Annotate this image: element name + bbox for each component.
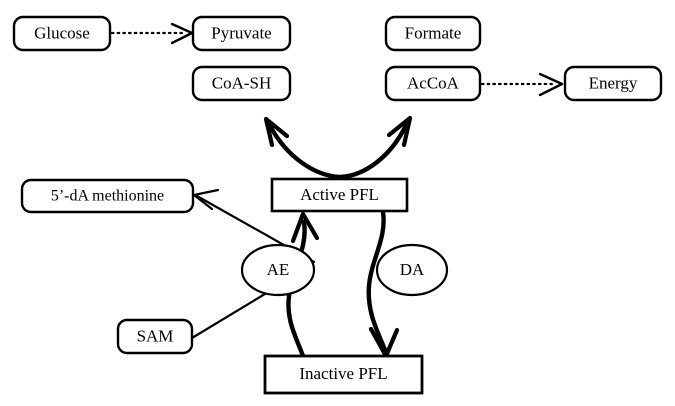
diagram-canvas: Glucose Pyruvate CoA-SH Formate AcCoA En… bbox=[0, 0, 675, 406]
node-sam[interactable]: SAM bbox=[118, 320, 192, 353]
node-pyruvate-label: Pyruvate bbox=[211, 23, 271, 42]
edge-accoa-to-energy bbox=[482, 74, 562, 95]
pathway-diagram: Glucose Pyruvate CoA-SH Formate AcCoA En… bbox=[0, 0, 675, 406]
node-energy-label: Energy bbox=[589, 73, 638, 92]
node-inactive-pfl-label: Inactive PFL bbox=[299, 364, 387, 383]
node-ae-label: AE bbox=[267, 260, 290, 279]
edge-activepfl-to-products bbox=[266, 118, 410, 177]
edge-glucose-to-pyruvate bbox=[112, 24, 192, 43]
node-da-methionine[interactable]: 5’-dA methionine bbox=[22, 180, 193, 212]
node-glucose[interactable]: Glucose bbox=[14, 17, 110, 50]
node-pyruvate[interactable]: Pyruvate bbox=[193, 17, 290, 50]
node-coash-label: CoA-SH bbox=[212, 73, 272, 92]
node-da-label: DA bbox=[400, 260, 425, 279]
node-energy[interactable]: Energy bbox=[565, 67, 661, 100]
node-formate-label: Formate bbox=[405, 23, 462, 42]
node-da-methionine-label: 5’-dA methionine bbox=[51, 188, 164, 205]
node-active-pfl-label: Active PFL bbox=[300, 185, 379, 204]
node-glucose-label: Glucose bbox=[34, 23, 90, 42]
node-accoa-label: AcCoA bbox=[407, 73, 460, 92]
node-coash[interactable]: CoA-SH bbox=[193, 67, 290, 100]
node-inactive-pfl[interactable]: Inactive PFL bbox=[265, 356, 422, 393]
node-da[interactable]: DA bbox=[377, 245, 447, 295]
node-accoa[interactable]: AcCoA bbox=[386, 67, 480, 100]
node-sam-label: SAM bbox=[137, 326, 174, 345]
node-formate[interactable]: Formate bbox=[386, 17, 480, 50]
node-active-pfl[interactable]: Active PFL bbox=[272, 179, 407, 211]
node-ae[interactable]: AE bbox=[242, 245, 314, 295]
